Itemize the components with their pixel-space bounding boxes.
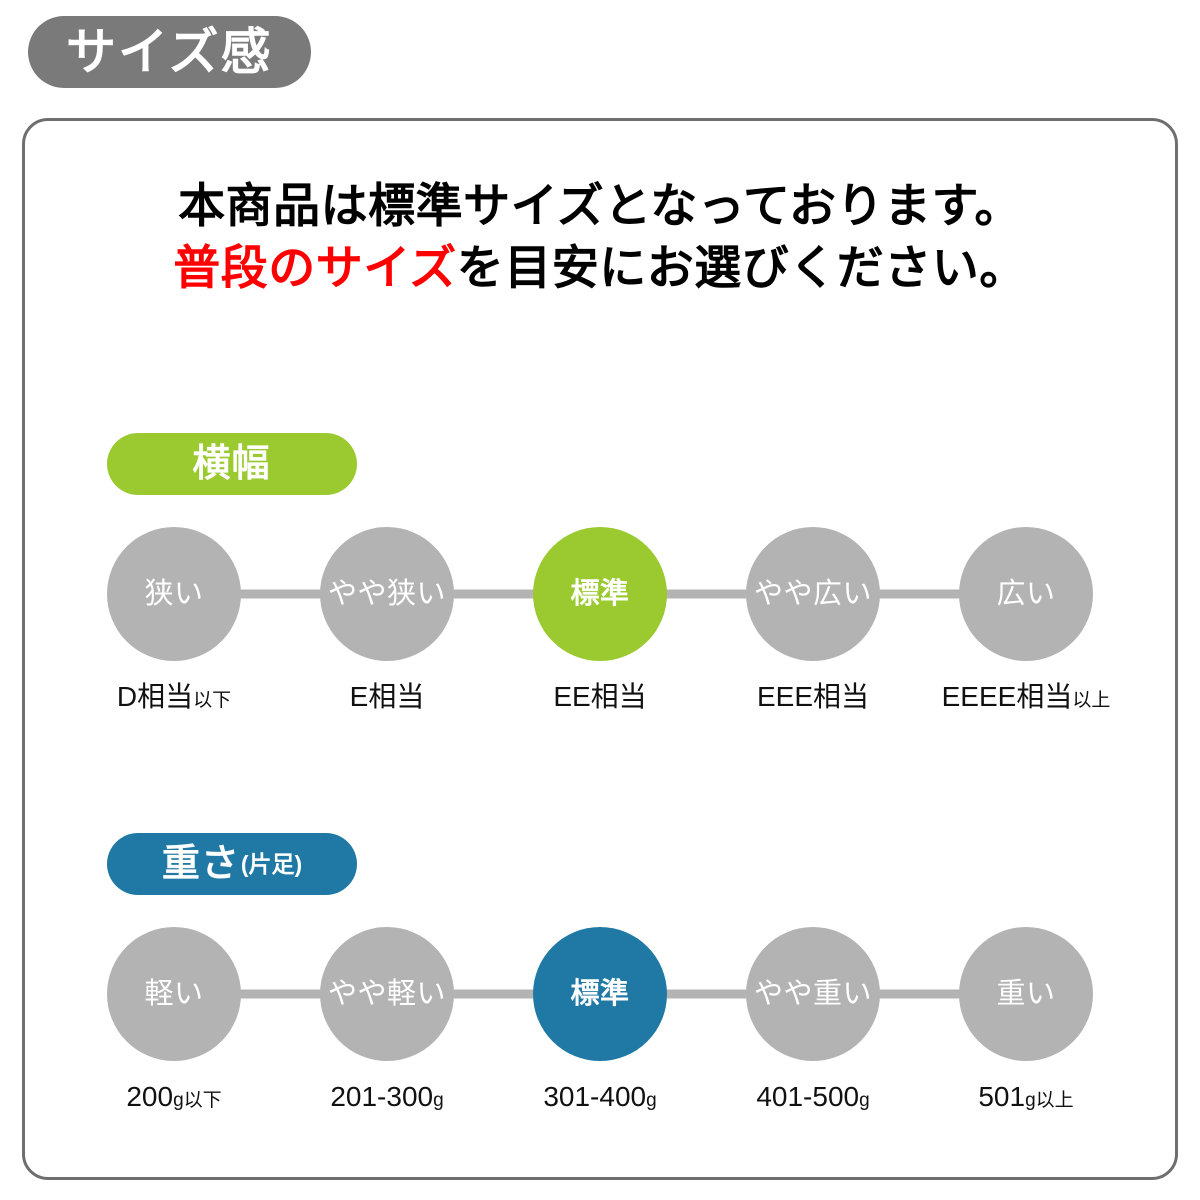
weight-caption-5-sub: g以上 (1025, 1090, 1074, 1111)
width-node-standard-label: 標準 (570, 580, 629, 609)
content-card: 本商品は標準サイズとなっております。 普段のサイズを目安にお選びください。 横幅… (22, 118, 1178, 1180)
width-caption-5: EEEE相当以上 (939, 683, 1113, 711)
weight-node-heavy[interactable]: 重い (959, 927, 1093, 1061)
weight-caption-4-sub: g (859, 1090, 870, 1111)
weight-node-row: 軽い やや軽い 標準 やや重い 重い (25, 927, 1175, 1061)
width-caption-1-main: D相当 (117, 681, 193, 712)
weight-node-standard-label: 標準 (570, 980, 629, 1009)
weight-caption-row: 200g以下 201-300g 301-400g 401-500g 501g以上 (25, 1083, 1175, 1111)
weight-node-slightly-heavy[interactable]: やや重い (746, 927, 880, 1061)
section-width: 横幅 狭い やや狭い 標準 やや広い (25, 433, 1175, 711)
weight-node-slightly-light-label: やや軽い (328, 980, 446, 1009)
weight-caption-4: 401-500g (726, 1083, 900, 1111)
weight-caption-3: 301-400g (513, 1083, 687, 1111)
headline-highlight: 普段のサイズ (173, 241, 457, 294)
width-node-narrow-label: 狭い (144, 580, 203, 609)
width-node-slightly-narrow[interactable]: やや狭い (320, 527, 454, 661)
width-node-slightly-wide-label: やや広い (754, 580, 872, 609)
headline-line-2: 普段のサイズを目安にお選びください。 (25, 237, 1175, 299)
width-caption-1-sub: 以下 (193, 690, 231, 711)
section-weight-badge-sub: (片足) (241, 853, 302, 876)
width-node-row: 狭い やや狭い 標準 やや広い 広い (25, 527, 1175, 661)
width-scale: 狭い やや狭い 標準 やや広い 広い (25, 527, 1175, 661)
width-caption-4-main: EEE相当 (757, 681, 869, 712)
weight-node-light-label: 軽い (144, 980, 203, 1009)
headline-block: 本商品は標準サイズとなっております。 普段のサイズを目安にお選びください。 (25, 175, 1175, 299)
width-caption-row: D相当以下 E相当 EE相当 EEE相当 EEEE相当以上 (25, 683, 1175, 711)
headline-line-1-text: 本商品は標準サイズとなっております。 (178, 179, 1022, 232)
section-weight-badge-label: 重さ (162, 845, 240, 883)
weight-caption-1-sub: g以下 (173, 1090, 222, 1111)
section-width-badge-label: 横幅 (192, 445, 270, 483)
headline-line-1: 本商品は標準サイズとなっております。 (25, 175, 1175, 237)
size-guide-infographic: サイズ感 本商品は標準サイズとなっております。 普段のサイズを目安にお選びくださ… (0, 0, 1200, 1200)
weight-node-standard[interactable]: 標準 (533, 927, 667, 1061)
weight-caption-3-main: 301-400 (543, 1081, 646, 1112)
section-header-badge: サイズ感 (28, 16, 311, 88)
weight-caption-1: 200g以下 (87, 1083, 261, 1111)
weight-node-heavy-label: 重い (996, 980, 1055, 1009)
section-weight-badge: 重さ (片足) (107, 833, 357, 895)
weight-caption-4-main: 401-500 (756, 1081, 859, 1112)
width-node-wide[interactable]: 広い (959, 527, 1093, 661)
headline-line-2-rest: を目安にお選びください。 (457, 241, 1027, 294)
weight-node-slightly-heavy-label: やや重い (754, 980, 872, 1009)
weight-caption-2-sub: g (433, 1090, 444, 1111)
width-caption-3: EE相当 (513, 683, 687, 711)
weight-caption-1-main: 200 (126, 1081, 173, 1112)
width-caption-1: D相当以下 (87, 683, 261, 711)
weight-caption-5: 501g以上 (939, 1083, 1113, 1111)
weight-node-slightly-light[interactable]: やや軽い (320, 927, 454, 1061)
weight-caption-5-main: 501 (978, 1081, 1025, 1112)
section-weight: 重さ (片足) 軽い やや軽い 標準 やや重い (25, 833, 1175, 1111)
weight-caption-2-main: 201-300 (330, 1081, 433, 1112)
width-node-slightly-narrow-label: やや狭い (328, 580, 446, 609)
width-caption-5-sub: 以上 (1072, 690, 1110, 711)
header-badge-label: サイズ感 (66, 27, 273, 77)
width-caption-2-main: E相当 (350, 681, 425, 712)
section-width-badge: 横幅 (107, 433, 357, 495)
weight-scale: 軽い やや軽い 標準 やや重い 重い (25, 927, 1175, 1061)
width-node-narrow[interactable]: 狭い (107, 527, 241, 661)
width-caption-5-main: EEEE相当 (942, 681, 1073, 712)
width-caption-4: EEE相当 (726, 683, 900, 711)
weight-node-light[interactable]: 軽い (107, 927, 241, 1061)
weight-caption-2: 201-300g (300, 1083, 474, 1111)
width-node-slightly-wide[interactable]: やや広い (746, 527, 880, 661)
width-node-standard[interactable]: 標準 (533, 527, 667, 661)
width-node-wide-label: 広い (996, 580, 1055, 609)
width-caption-3-main: EE相当 (553, 681, 646, 712)
weight-caption-3-sub: g (646, 1090, 657, 1111)
width-caption-2: E相当 (300, 683, 474, 711)
